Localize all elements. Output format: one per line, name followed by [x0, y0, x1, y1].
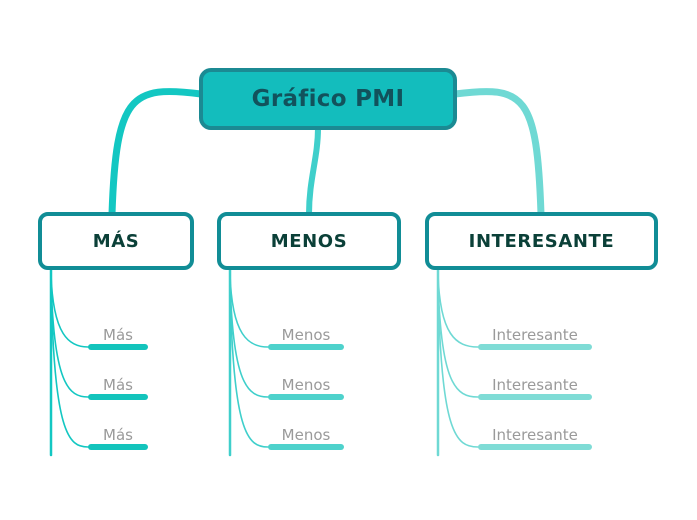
leaf-node-label: Menos	[268, 376, 344, 394]
branch-node-interesante[interactable]: INTERESANTE	[425, 212, 658, 270]
leaf-node-underline	[268, 344, 344, 350]
leaf-node-label: Más	[88, 326, 148, 344]
leaf-connector	[438, 274, 478, 447]
leaf-node-underline	[478, 344, 592, 350]
branch-node-label: MENOS	[271, 231, 348, 252]
leaf-connector	[438, 274, 478, 347]
leaf-node-underline	[88, 394, 148, 400]
leaf-node[interactable]: Interesante	[478, 318, 592, 350]
leaf-node-underline	[478, 394, 592, 400]
leaf-node[interactable]: Interesante	[478, 418, 592, 450]
leaf-node[interactable]: Menos	[268, 368, 344, 400]
leaf-node-underline	[88, 444, 148, 450]
leaf-connector	[230, 274, 268, 447]
branch-node-mas[interactable]: MÁS	[38, 212, 194, 270]
root-to-branch-connector	[455, 91, 541, 214]
leaf-node[interactable]: Interesante	[478, 368, 592, 400]
leaf-node-underline	[88, 344, 148, 350]
leaf-node-label: Más	[88, 376, 148, 394]
root-node[interactable]: Gráfico PMI	[199, 68, 457, 130]
leaf-node[interactable]: Más	[88, 318, 148, 350]
leaf-node[interactable]: Menos	[268, 418, 344, 450]
leaf-node[interactable]: Más	[88, 418, 148, 450]
leaf-connector	[51, 274, 88, 347]
leaf-node-label: Interesante	[478, 426, 592, 444]
leaf-connector	[51, 274, 88, 447]
branch-node-label: MÁS	[93, 231, 140, 252]
leaf-node-label: Menos	[268, 326, 344, 344]
leaf-connector	[438, 274, 478, 397]
leaf-node-label: Interesante	[478, 376, 592, 394]
leaf-node-underline	[268, 444, 344, 450]
root-node-label: Gráfico PMI	[252, 86, 405, 112]
branch-node-label: INTERESANTE	[469, 231, 615, 252]
root-to-branch-connector	[112, 91, 201, 214]
leaf-connector	[230, 274, 268, 347]
leaf-connector	[51, 274, 88, 397]
leaf-connector	[230, 274, 268, 397]
leaf-node[interactable]: Más	[88, 368, 148, 400]
branch-node-menos[interactable]: MENOS	[217, 212, 401, 270]
leaf-node-label: Más	[88, 426, 148, 444]
mindmap-canvas: Gráfico PMI MÁS MENOS INTERESANTE MásMás…	[0, 0, 697, 520]
root-to-branch-connector	[309, 128, 318, 214]
leaf-node-label: Interesante	[478, 326, 592, 344]
leaf-node-underline	[268, 394, 344, 400]
leaf-node-underline	[478, 444, 592, 450]
leaf-node[interactable]: Menos	[268, 318, 344, 350]
leaf-node-label: Menos	[268, 426, 344, 444]
